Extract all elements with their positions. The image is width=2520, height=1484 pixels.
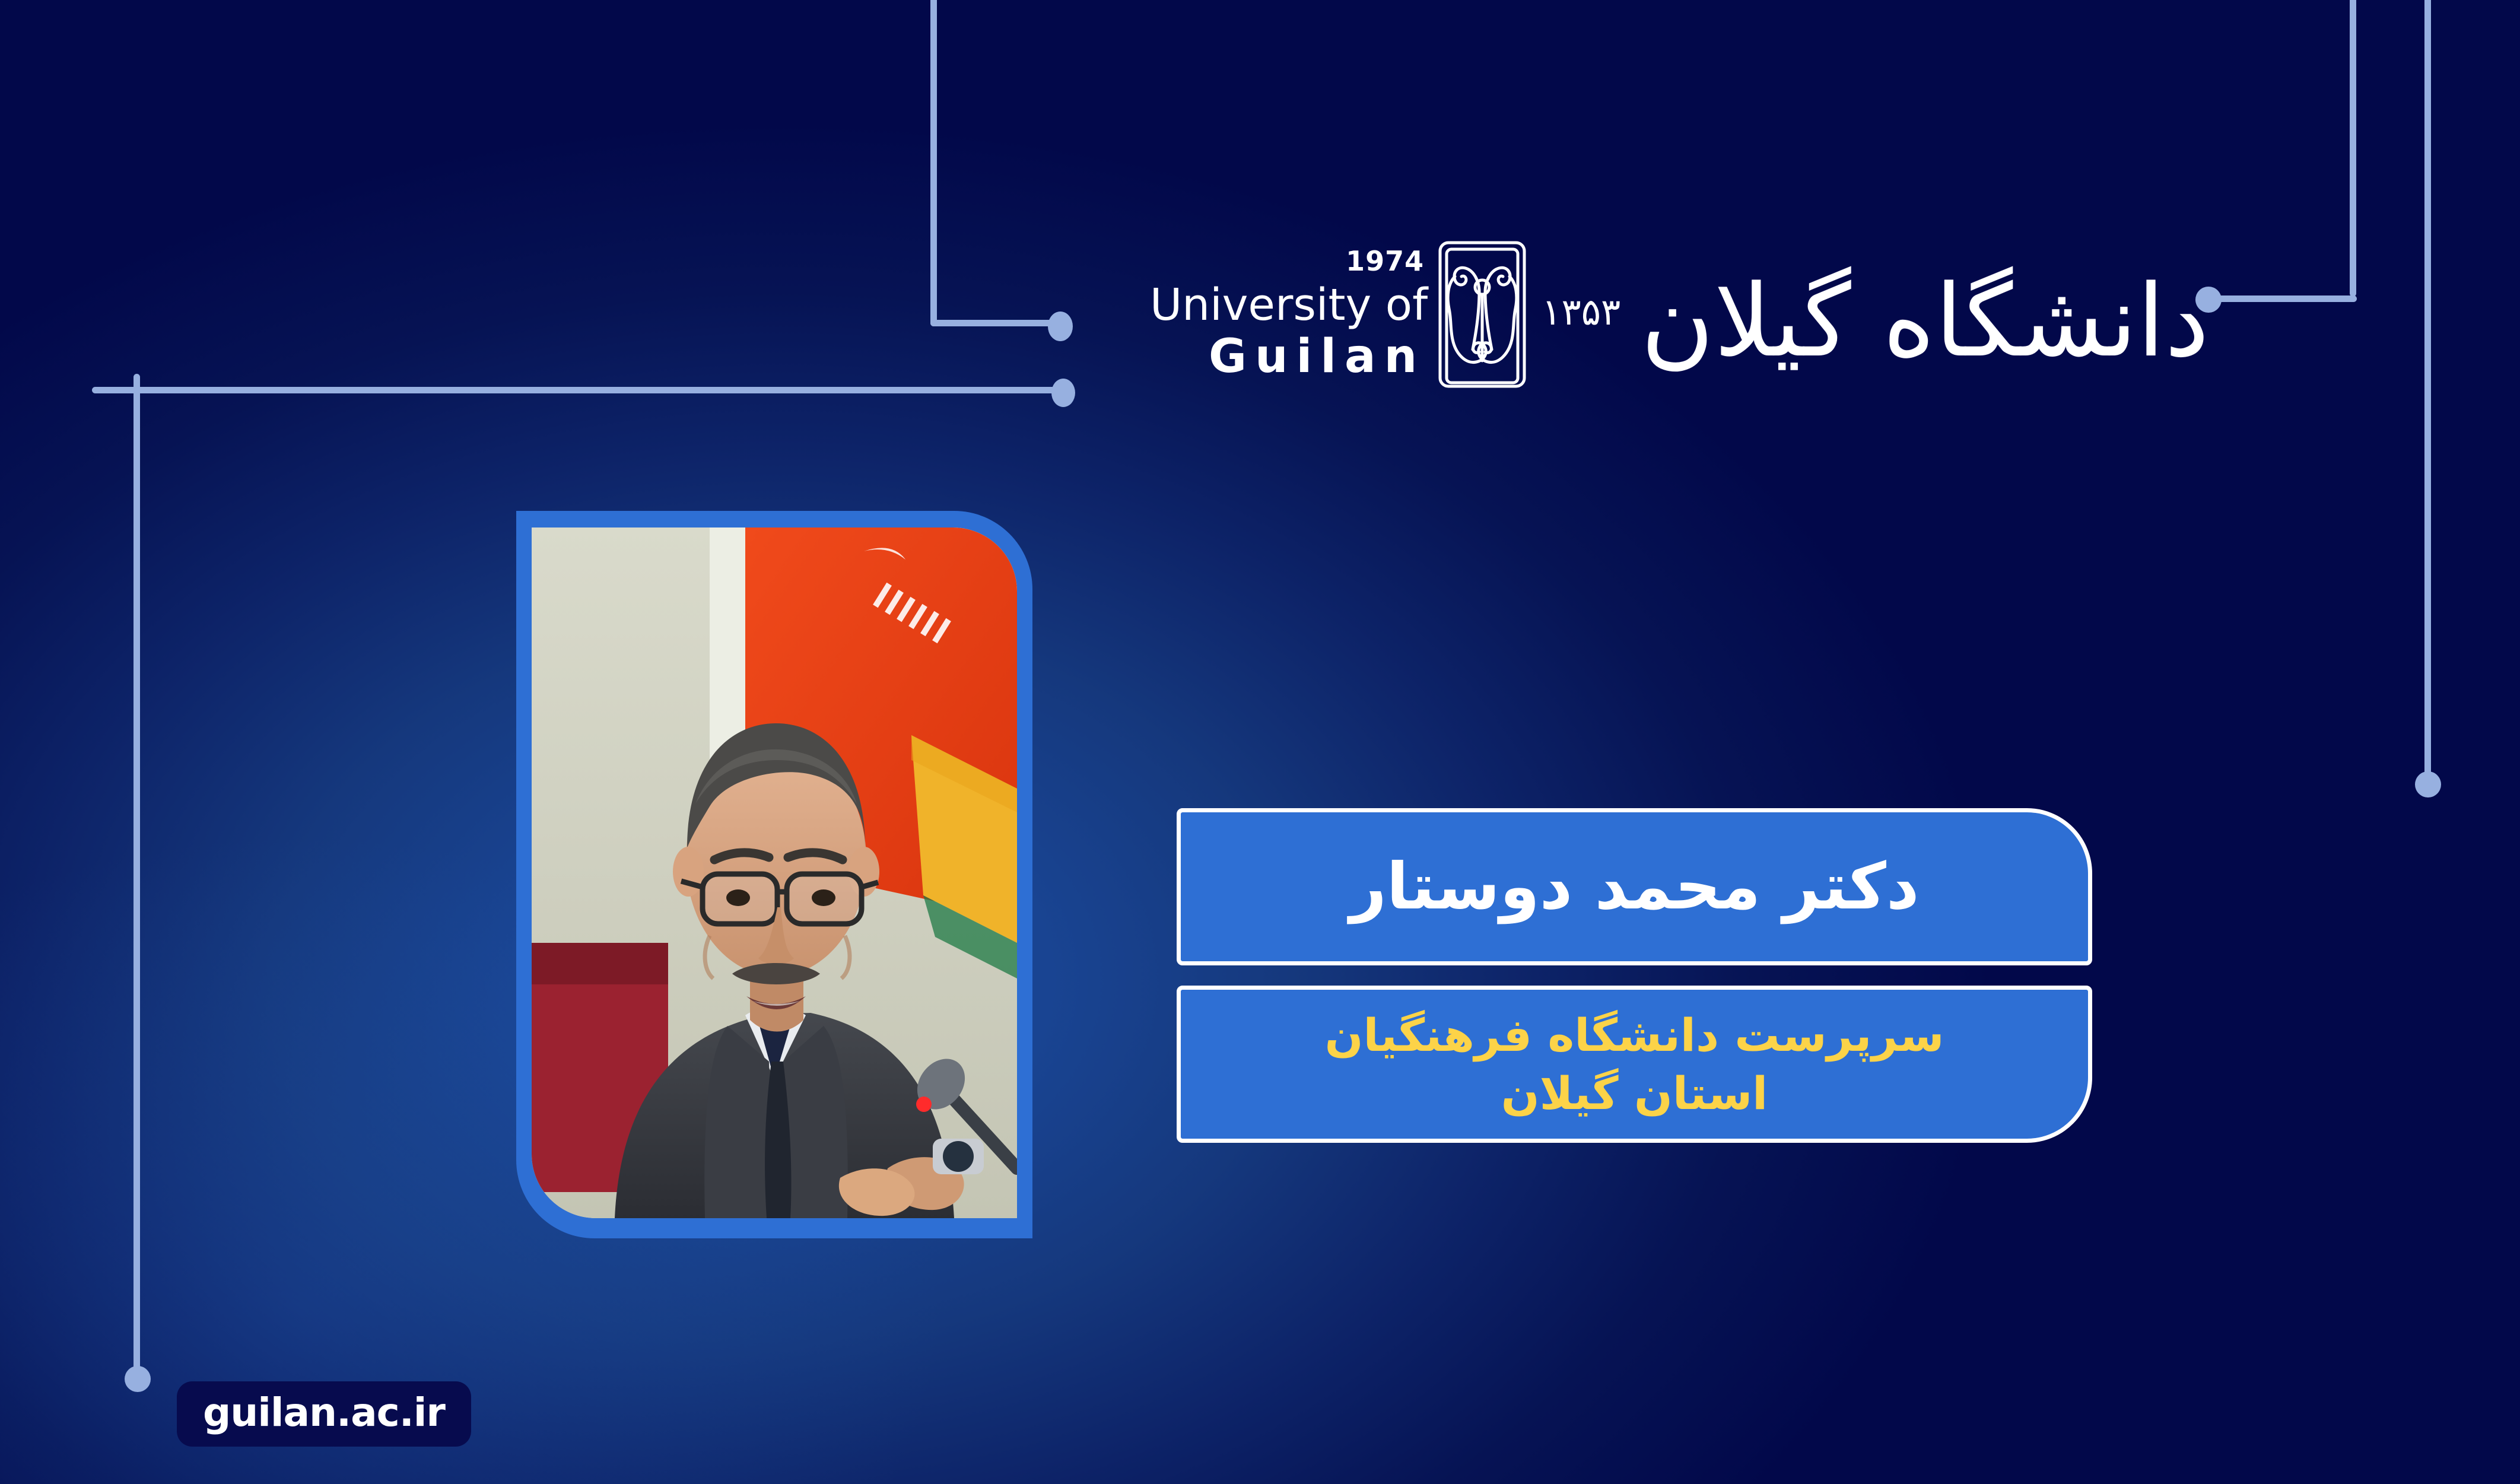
logo-english-lockup: 1974 University of Guilan — [1150, 247, 1428, 382]
person-title-line1: سرپرست دانشگاه فرهنگیان — [1325, 1006, 1944, 1064]
decor-dot-right — [2415, 771, 2441, 797]
info-badges: دکتر محمد دوستار سرپرست دانشگاه فرهنگیان… — [1177, 808, 2092, 1143]
portrait-frame — [516, 511, 1032, 1238]
website-url: guilan.ac.ir — [203, 1390, 445, 1435]
decor-dot-left — [1051, 379, 1075, 407]
decor-vertical-line-top-left — [930, 0, 937, 326]
decor-dot-top-left — [1048, 312, 1073, 341]
decor-vertical-line-left — [134, 374, 140, 1377]
person-name-badge: دکتر محمد دوستار — [1177, 808, 2092, 965]
poster-canvas: دانشگاه گیلان ۱۳۵۳ 1974 University of Gu… — [0, 0, 2520, 1484]
decor-horizontal-line-top-left — [930, 320, 1054, 326]
person-title-badge: سرپرست دانشگاه فرهنگیان استان گیلان — [1177, 986, 2092, 1143]
logo-persian-name: دانشگاه گیلان — [1641, 271, 2209, 371]
university-logo: دانشگاه گیلان ۱۳۵۳ 1974 University of Gu… — [1145, 196, 2083, 433]
guilan-university-emblem-icon — [1437, 240, 1527, 389]
person-title-line2: استان گیلان — [1325, 1064, 1944, 1122]
website-url-badge[interactable]: guilan.ac.ir — [177, 1381, 471, 1447]
decor-vertical-line-top-right — [2350, 0, 2356, 297]
person-name: دکتر محمد دوستار — [1350, 855, 1920, 919]
logo-persian-year: ۱۳۵۳ — [1542, 294, 1620, 335]
decor-horizontal-line-left — [92, 387, 1065, 393]
decor-vertical-line-right — [2424, 0, 2431, 783]
logo-english-line2: Guilan — [1209, 332, 1428, 382]
logo-english-year: 1974 — [1346, 247, 1428, 275]
decor-horizontal-line-top-right — [2207, 295, 2357, 302]
decor-dot-bottom-left — [125, 1366, 151, 1392]
portrait-photo — [532, 527, 1017, 1218]
logo-english-line1: University of — [1150, 283, 1428, 328]
